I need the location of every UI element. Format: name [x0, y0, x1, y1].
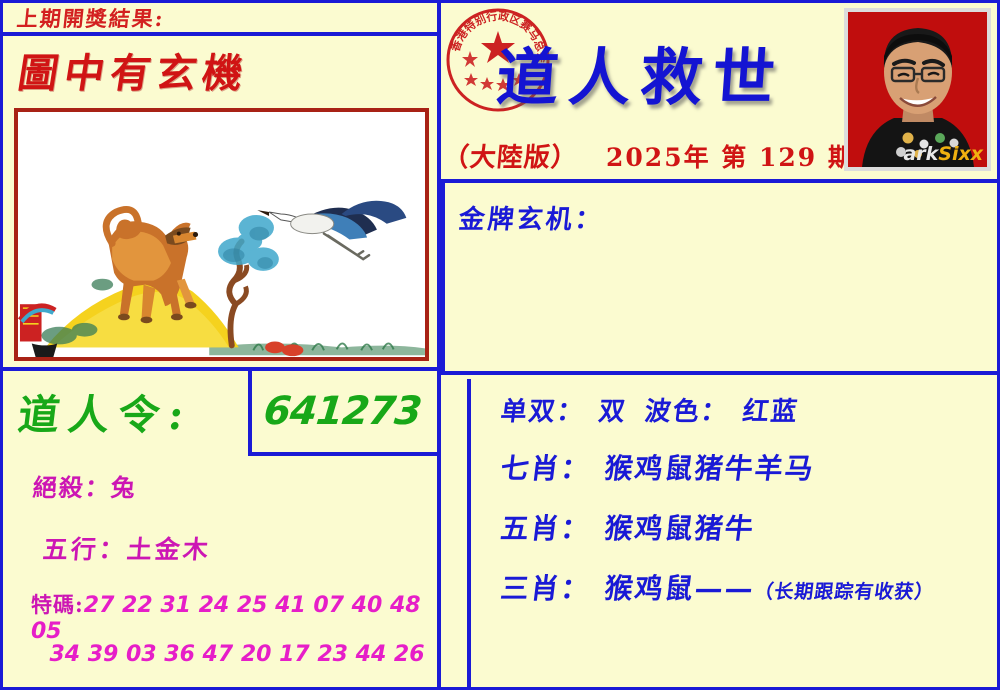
- left-column: 上期開獎結果: 圖中有玄機: [3, 3, 437, 687]
- illustration-image: [18, 112, 425, 360]
- right-column: 香港特别行政区赛马总会 道人救世 （大陸版） 2025年 第 129 期: [441, 3, 997, 687]
- portrait-watermark-ark: ark: [903, 143, 938, 165]
- picture-title: 圖中有玄機: [3, 36, 437, 104]
- prediction-row-seven-zodiac: 七肖：猴鸡鼠猪牛羊马: [499, 447, 818, 487]
- kill-row: 絕殺：兔: [1, 468, 438, 503]
- seven-zodiac-value: 猴鸡鼠猪牛羊马: [603, 452, 817, 485]
- brand-header: 香港特别行政区赛马总会 道人救世 （大陸版） 2025年 第 129 期: [441, 3, 997, 179]
- daoren-code-box: 641273: [248, 371, 437, 456]
- wave-color-key: 波色：: [643, 397, 731, 427]
- portrait-watermark-sixx: Sixx: [938, 143, 983, 165]
- issue-label: 2025年 第 129 期: [606, 138, 855, 174]
- special-code-label: 特碼:: [31, 592, 84, 617]
- gold-tips-panel: 金牌玄机：: [441, 179, 997, 375]
- prediction-row-three-zodiac: 三肖：猴鸡鼠——（长期跟踪有收获）: [499, 567, 938, 607]
- poster-root: 上期開獎結果: 圖中有玄機: [0, 0, 1000, 690]
- portrait-watermark: arkSixx: [903, 143, 983, 165]
- edition-label: （大陸版）: [441, 137, 579, 174]
- oddeven-value: 双: [597, 397, 629, 427]
- picture-title-text: 圖中有玄機: [14, 41, 253, 99]
- three-zodiac-value: 猴鸡鼠——: [603, 572, 757, 605]
- daoren-code-value: 641273: [262, 389, 424, 434]
- wuxing-row: 五行：土金木: [1, 530, 438, 566]
- prediction-row-five-zodiac: 五肖：猴鸡鼠猪牛: [499, 507, 758, 547]
- special-code-numbers-line2: 34 39 03 36 47 20 17 23 44 26: [3, 642, 437, 667]
- host-portrait: arkSixx: [844, 8, 991, 171]
- previous-result-bar: 上期開獎結果:: [3, 3, 437, 36]
- brand-title: 道人救世: [494, 27, 788, 117]
- wave-color-value: 红蓝: [741, 397, 801, 427]
- special-code-row: 特碼:27 22 31 24 25 41 07 40 48 05: [3, 589, 437, 644]
- gold-tips-label: 金牌玄机：: [457, 199, 606, 236]
- previous-result-label: 上期開獎結果:: [15, 3, 166, 33]
- oddeven-key: 单双：: [499, 397, 587, 427]
- edition-line: （大陸版） 2025年 第 129 期: [441, 137, 861, 174]
- prediction-row-oddeven: 单双：双波色：红蓝: [499, 391, 802, 428]
- illustration-frame: [14, 108, 429, 361]
- special-code-numbers-line1: 27 22 31 24 25 41 07 40 48 05: [31, 593, 421, 644]
- five-zodiac-value: 猴鸡鼠猪牛: [603, 512, 757, 545]
- five-zodiac-key: 五肖：: [499, 512, 593, 545]
- daoren-label: 道人令:: [15, 381, 197, 441]
- seven-zodiac-key: 七肖：: [499, 452, 593, 485]
- three-zodiac-note: （长期跟踪有收获）: [753, 581, 936, 603]
- predictions-panel: 单双：双波色：红蓝 七肖：猴鸡鼠猪牛羊马 五肖：猴鸡鼠猪牛 三肖：猴鸡鼠——（长…: [467, 379, 997, 687]
- three-zodiac-key: 三肖：: [499, 572, 593, 605]
- daoren-code-row: 道人令: 641273: [3, 371, 437, 456]
